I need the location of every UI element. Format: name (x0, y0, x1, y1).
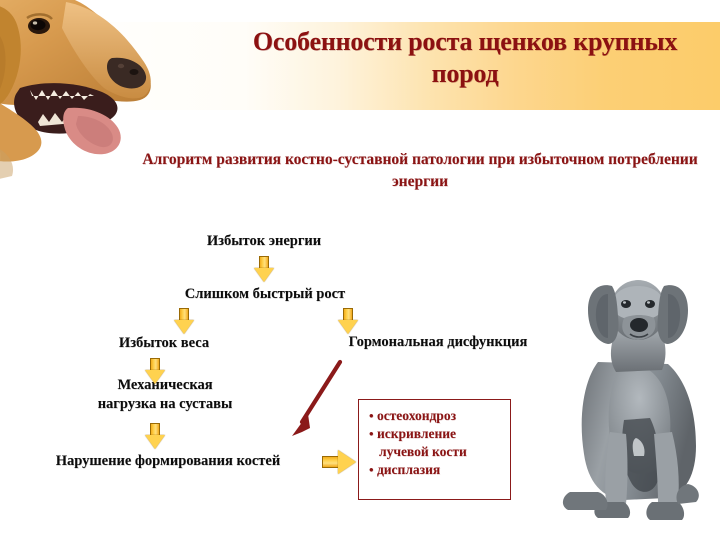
list-item: • остеохондроз (369, 407, 510, 425)
arrow-head (254, 268, 274, 282)
arrow-head (338, 450, 356, 474)
flow-node-bone-formation-disorder: Нарушение формирования костей (8, 452, 328, 471)
list-item: • дисплазия (369, 461, 510, 479)
bullet-icon: • (369, 426, 374, 441)
arrow-down-icon (338, 308, 358, 334)
arrow-head (338, 320, 358, 334)
slide-subtitle: Алгоритм развития костно-суставной патол… (130, 149, 710, 193)
bullet-icon: • (369, 408, 374, 423)
arrow-down-icon (254, 256, 274, 282)
arrow-shaft (322, 456, 339, 468)
flow-node-excess-energy: Избыток энергии (154, 232, 374, 251)
arrow-down-icon (174, 308, 194, 334)
arrow-diagonal-red-icon (286, 358, 350, 440)
weimaraner-puppy-image (562, 270, 712, 532)
list-item: • искривление лучевой кости (369, 425, 510, 461)
flow-node-hormonal-dysfunction: Гормональная дисфункция (310, 333, 566, 352)
arrow-down-icon (145, 423, 165, 449)
page-title: Особенности роста щенков крупных пород (230, 26, 700, 89)
list-item-label: дисплазия (377, 462, 440, 477)
outcome-box: • остеохондроз • искривление лучевой кос… (358, 399, 511, 500)
bullet-icon: • (369, 462, 374, 477)
arrow-head (145, 370, 165, 384)
outcome-list: • остеохондроз • искривление лучевой кос… (359, 400, 510, 479)
arrow-down-icon (145, 358, 165, 384)
flow-node-fast-growth: Слишком быстрый рост (150, 285, 380, 304)
list-item-label: остеохондроз (377, 408, 456, 423)
arrow-right-icon (322, 450, 356, 474)
arrow-head (174, 320, 194, 334)
arrow-head (145, 435, 165, 449)
flow-node-mechanical-load: Механическая нагрузка на суставы (48, 376, 282, 414)
slide-canvas: Особенности роста щенков крупных пород А… (0, 0, 720, 540)
flow-node-excess-weight: Избыток веса (66, 334, 262, 353)
list-item-label: искривление лучевой кости (377, 426, 467, 459)
